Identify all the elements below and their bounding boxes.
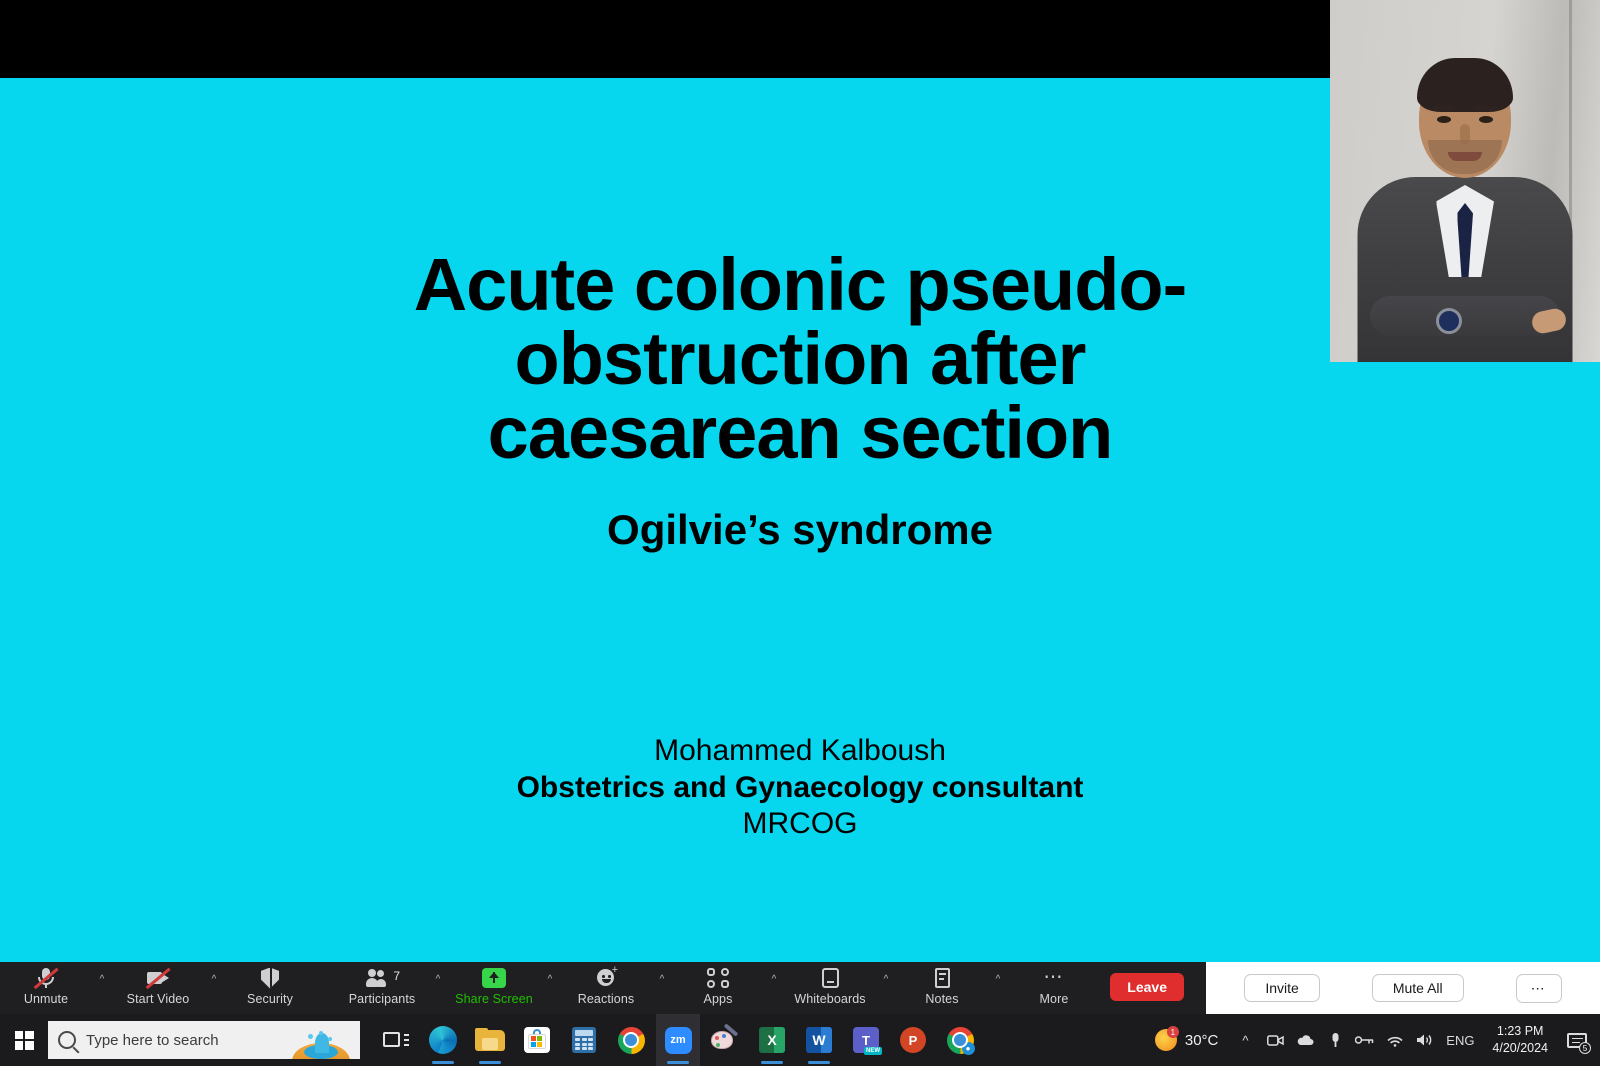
zoom-toolbar-controls: Unmute ^ Start Video ^ Security 7	[0, 962, 1206, 1014]
whiteboards-button[interactable]: Whiteboards	[784, 962, 876, 1014]
microsoft-excel-icon[interactable]: X	[750, 1014, 794, 1066]
tray-expand-chevron-icon[interactable]: ^	[1230, 1014, 1260, 1066]
weather-widget[interactable]: 1 30°C	[1143, 1029, 1231, 1051]
slide-subtitle: Ogilvie’s syndrome	[0, 506, 1600, 554]
language-indicator[interactable]: ENG	[1440, 1014, 1480, 1066]
more-dots-icon: ⋯	[1044, 966, 1065, 990]
apps-label: Apps	[704, 992, 733, 1006]
usb-icon[interactable]	[1320, 1014, 1350, 1066]
security-label: Security	[247, 992, 293, 1006]
title-line-3: caesarean section	[0, 396, 1600, 470]
more-button[interactable]: ⋯ More	[1008, 962, 1100, 1014]
whiteboard-icon	[822, 966, 839, 990]
participants-chevron-icon[interactable]: ^	[428, 962, 448, 1014]
shield-icon	[261, 966, 279, 990]
apps-icon	[707, 966, 729, 990]
paint-icon[interactable]	[703, 1014, 747, 1066]
google-chrome-beta-icon[interactable]: ●	[938, 1014, 982, 1066]
search-icon	[58, 1031, 76, 1049]
screen-root: Acute colonic pseudo- obstruction after …	[0, 0, 1600, 1066]
taskbar-app-icons: zm X W TNEW P ●	[374, 1014, 982, 1066]
task-view-icon[interactable]	[374, 1014, 418, 1066]
wifi-icon[interactable]	[1380, 1014, 1410, 1066]
zoom-toolbar-right-panel: Invite Mute All ⋯	[1206, 962, 1600, 1014]
share-screen-button[interactable]: Share Screen	[448, 962, 540, 1014]
notes-icon	[935, 966, 950, 990]
share-screen-chevron-icon[interactable]: ^	[540, 962, 560, 1014]
microsoft-powerpoint-icon[interactable]: P	[891, 1014, 935, 1066]
participant-eye-left	[1437, 116, 1451, 123]
security-key-icon[interactable]	[1350, 1014, 1380, 1066]
participants-label: Participants	[349, 992, 416, 1006]
security-spacer	[316, 962, 336, 1014]
unmute-button[interactable]: Unmute	[0, 962, 92, 1014]
apps-chevron-icon[interactable]: ^	[764, 962, 784, 1014]
reactions-icon: +	[595, 966, 617, 990]
security-button[interactable]: Security	[224, 962, 316, 1014]
google-chrome-icon[interactable]	[609, 1014, 653, 1066]
more-label: More	[1040, 992, 1069, 1006]
video-participant	[1350, 62, 1580, 362]
clock-date: 4/20/2024	[1492, 1040, 1548, 1057]
apps-button[interactable]: Apps	[672, 962, 764, 1014]
microsoft-word-icon[interactable]: W	[797, 1014, 841, 1066]
participant-brow-left	[1433, 106, 1455, 111]
weather-icon: 1	[1155, 1029, 1177, 1051]
microsoft-store-icon[interactable]	[515, 1014, 559, 1066]
participants-icon: 7	[367, 966, 397, 990]
participant-mouth	[1448, 152, 1482, 161]
zoom-meeting-toolbar: Unmute ^ Start Video ^ Security 7	[0, 962, 1600, 1014]
author-name: Mohammed Kalboush	[0, 733, 1600, 770]
onedrive-icon[interactable]	[1290, 1014, 1320, 1066]
share-screen-label: Share Screen	[455, 992, 533, 1006]
author-credential: MRCOG	[0, 806, 1600, 843]
participant-head	[1419, 62, 1511, 178]
zoom-icon[interactable]: zm	[656, 1014, 700, 1066]
microsoft-edge-icon[interactable]	[421, 1014, 465, 1066]
clock-widget[interactable]: 1:23 PM 4/20/2024	[1480, 1023, 1560, 1057]
participant-hair	[1417, 58, 1513, 112]
microphone-muted-icon	[34, 966, 58, 990]
author-block: Mohammed Kalboush Obstetrics and Gynaeco…	[0, 733, 1600, 843]
volume-icon[interactable]	[1410, 1014, 1440, 1066]
participant-arms	[1370, 296, 1560, 336]
participant-eye-right	[1479, 116, 1493, 123]
participants-count: 7	[393, 969, 400, 983]
author-role: Obstetrics and Gynaecology consultant	[0, 770, 1600, 807]
weather-badge: 1	[1167, 1026, 1179, 1038]
audio-options-chevron-icon[interactable]: ^	[92, 962, 112, 1014]
notes-button[interactable]: Notes	[896, 962, 988, 1014]
invite-button[interactable]: Invite	[1244, 974, 1319, 1002]
meet-now-icon[interactable]	[1260, 1014, 1290, 1066]
reactions-button[interactable]: + Reactions	[560, 962, 652, 1014]
windows-start-icon[interactable]	[0, 1014, 48, 1066]
search-illustration	[288, 1027, 354, 1059]
start-video-button[interactable]: Start Video	[112, 962, 204, 1014]
search-input[interactable]: Type here to search	[48, 1021, 360, 1059]
reactions-label: Reactions	[578, 992, 635, 1006]
whiteboards-label: Whiteboards	[794, 992, 865, 1006]
system-tray: 1 30°C ^ ENG	[1143, 1014, 1600, 1066]
notes-label: Notes	[925, 992, 958, 1006]
file-explorer-icon[interactable]	[468, 1014, 512, 1066]
participants-button[interactable]: 7 Participants	[336, 962, 428, 1014]
reactions-chevron-icon[interactable]: ^	[652, 962, 672, 1014]
participant-nose	[1460, 124, 1470, 144]
share-screen-icon	[482, 966, 506, 990]
search-placeholder: Type here to search	[86, 1032, 219, 1049]
video-options-chevron-icon[interactable]: ^	[204, 962, 224, 1014]
leave-button[interactable]: Leave	[1110, 973, 1184, 1001]
self-view-video[interactable]	[1330, 0, 1600, 362]
participant-watch	[1436, 308, 1462, 334]
notifications-icon[interactable]: 5	[1560, 1014, 1594, 1066]
mute-all-button[interactable]: Mute All	[1372, 974, 1464, 1002]
panel-more-button[interactable]: ⋯	[1516, 974, 1562, 1003]
calculator-icon[interactable]	[562, 1014, 606, 1066]
start-video-label: Start Video	[127, 992, 190, 1006]
microsoft-teams-icon[interactable]: TNEW	[844, 1014, 888, 1066]
clock-time: 1:23 PM	[1492, 1023, 1548, 1040]
unmute-label: Unmute	[24, 992, 68, 1006]
windows-taskbar: Type here to search	[0, 1014, 1600, 1066]
whiteboards-chevron-icon[interactable]: ^	[876, 962, 896, 1014]
weather-temperature: 30°C	[1185, 1032, 1219, 1049]
participant-brow-right	[1475, 106, 1497, 111]
notes-chevron-icon[interactable]: ^	[988, 962, 1008, 1014]
notification-count: 5	[1579, 1042, 1591, 1054]
camera-muted-icon	[146, 966, 170, 990]
shared-screen-area: Acute colonic pseudo- obstruction after …	[0, 0, 1600, 962]
